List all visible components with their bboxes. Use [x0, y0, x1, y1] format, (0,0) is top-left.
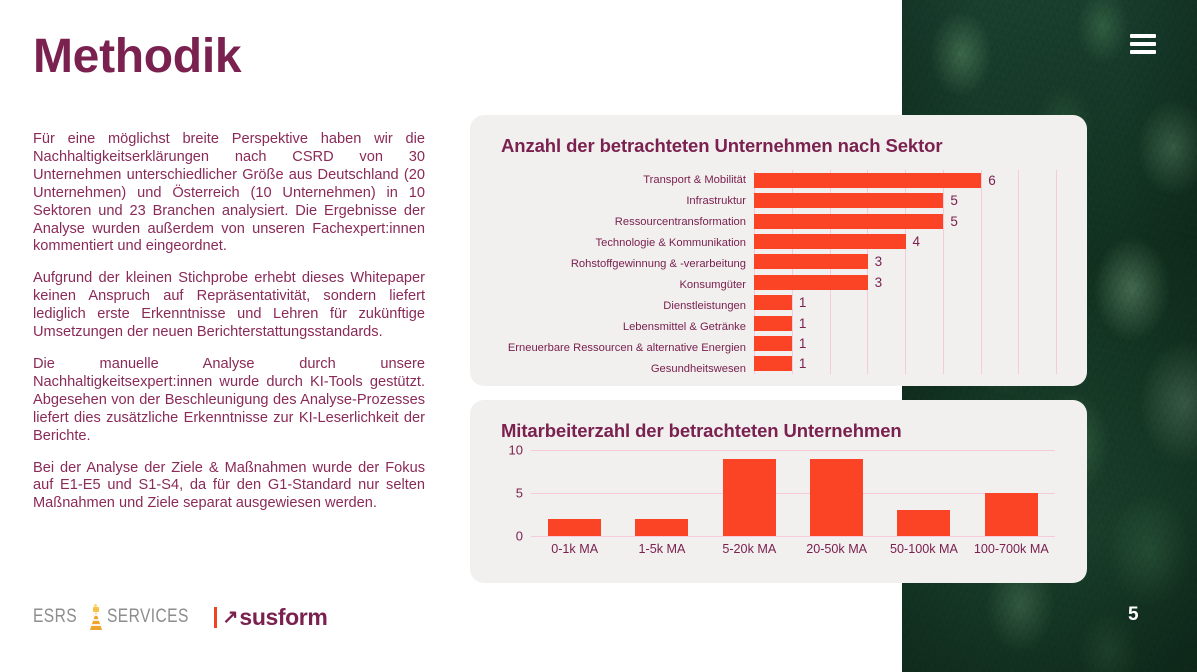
sector-bar: [754, 316, 792, 331]
employee-bar-column: [793, 450, 880, 536]
sector-chart-bars-area: 6554331111: [754, 170, 1057, 374]
employee-category-label: 0-1k MA: [531, 542, 618, 556]
sector-chart-plot: Transport & MobilitätInfrastrukturRessou…: [501, 170, 1057, 374]
page-title: Methodik: [33, 29, 241, 84]
employee-bar-column: [706, 450, 793, 536]
y-axis-tick-label: 5: [516, 487, 523, 500]
paragraph-2: Aufgrund der kleinen Stichprobe erhebt d…: [33, 270, 425, 342]
sector-category-label: Infrastruktur: [501, 191, 746, 212]
sector-bar-row: 1: [754, 354, 1057, 374]
y-axis-tick-label: 0: [516, 530, 523, 543]
paragraph-1: Für eine möglichst breite Perspektive ha…: [33, 131, 425, 256]
employee-bar: [635, 519, 688, 536]
sector-bar-row: 1: [754, 333, 1057, 353]
sector-bar: [754, 295, 792, 310]
sector-bar-value: 1: [799, 336, 807, 351]
sector-bar-row: 5: [754, 211, 1057, 231]
sector-bar-row: 1: [754, 292, 1057, 312]
hamburger-bar-1: [1130, 34, 1156, 38]
sector-bar-value: 5: [950, 214, 958, 229]
employee-chart-bars-area: [531, 450, 1055, 536]
sector-bar: [754, 356, 792, 371]
body-copy: Für eine möglichst breite Perspektive ha…: [33, 131, 425, 513]
lighthouse-icon: [88, 604, 104, 630]
employee-chart-y-axis: 1050: [501, 450, 527, 536]
services-label: SERVICES: [107, 606, 189, 628]
employee-category-label: 100-700k MA: [968, 542, 1055, 556]
employee-chart-bars: [531, 450, 1055, 536]
footer-logo: ESRS SERVICES ↗ susform: [33, 603, 327, 631]
employee-category-label: 1-5k MA: [618, 542, 705, 556]
sector-bar: [754, 214, 943, 229]
sector-bar-value: 1: [799, 356, 807, 371]
sector-chart-title: Anzahl der betrachteten Unternehmen nach…: [501, 135, 942, 157]
sector-bar-value: 1: [799, 316, 807, 331]
sector-category-label: Konsumgüter: [501, 275, 746, 296]
sector-category-label: Rohstoffgewinnung & -verarbeitung: [501, 254, 746, 275]
employee-category-label: 50-100k MA: [880, 542, 967, 556]
sector-category-label: Ressourcentransformation: [501, 212, 746, 233]
sector-chart-card: Anzahl der betrachteten Unternehmen nach…: [470, 115, 1087, 386]
sector-bar-value: 4: [913, 234, 921, 249]
sector-bar-value: 1: [799, 295, 807, 310]
employee-bar: [548, 519, 601, 536]
sector-bar-row: 6: [754, 170, 1057, 190]
sector-category-label: Technologie & Kommunikation: [501, 233, 746, 254]
page-number: 5: [1128, 604, 1139, 626]
employee-category-label: 20-50k MA: [793, 542, 880, 556]
sector-bar-value: 5: [950, 193, 958, 208]
employee-bar: [810, 459, 863, 536]
employee-bar: [897, 510, 950, 536]
esrs-label: ESRS: [33, 606, 77, 628]
y-axis-tick-label: 10: [509, 444, 523, 457]
sector-category-label: Lebensmittel & Getränke: [501, 317, 746, 338]
sector-category-label: Transport & Mobilität: [501, 170, 746, 191]
hamburger-menu-icon[interactable]: [1130, 34, 1156, 54]
employee-chart-plot: 1050 0-1k MA1-5k MA5-20k MA20-50k MA50-1…: [501, 450, 1055, 573]
arrow-up-right-icon: ↗: [223, 608, 239, 627]
logo-divider: [214, 607, 217, 628]
sector-bar: [754, 275, 868, 290]
susform-brand: susform: [239, 604, 327, 631]
employee-bar-column: [968, 450, 1055, 536]
sector-bar-row: 3: [754, 252, 1057, 272]
sector-bar-row: 5: [754, 190, 1057, 210]
sector-bar: [754, 254, 868, 269]
hamburger-bar-2: [1130, 42, 1156, 46]
sector-category-label: Erneuerbare Ressourcen & alternative Ene…: [501, 338, 746, 359]
sector-bar-row: 1: [754, 313, 1057, 333]
sector-bar: [754, 234, 906, 249]
employee-chart-title: Mitarbeiterzahl der betrachteten Unterne…: [501, 420, 902, 442]
employee-bar: [985, 493, 1038, 536]
sector-bar: [754, 173, 981, 188]
hamburger-bar-3: [1130, 50, 1156, 54]
sector-bar-row: 4: [754, 231, 1057, 251]
sector-bar-value: 3: [875, 254, 883, 269]
sector-chart-bar-rows: 6554331111: [754, 170, 1057, 374]
sector-bar: [754, 336, 792, 351]
sector-chart-category-labels: Transport & MobilitätInfrastrukturRessou…: [501, 170, 754, 374]
sector-bar-row: 3: [754, 272, 1057, 292]
sector-bar-value: 6: [988, 173, 996, 188]
paragraph-3: Die manuelle Analyse durch unsere Nachha…: [33, 356, 425, 446]
slide-root: 5 Methodik Für eine möglichst breite Per…: [0, 0, 1197, 672]
employee-bar-column: [618, 450, 705, 536]
paragraph-4: Bei der Analyse der Ziele & Maßnahmen wu…: [33, 460, 425, 514]
sector-bar: [754, 193, 943, 208]
employee-bar-column: [880, 450, 967, 536]
employee-category-label: 5-20k MA: [706, 542, 793, 556]
sector-bar-value: 3: [875, 275, 883, 290]
sector-category-label: Gesundheitswesen: [501, 359, 746, 380]
sector-category-label: Dienstleistungen: [501, 296, 746, 317]
employee-chart-x-labels: 0-1k MA1-5k MA5-20k MA20-50k MA50-100k M…: [531, 542, 1055, 556]
employee-bar-column: [531, 450, 618, 536]
employee-chart-card: Mitarbeiterzahl der betrachteten Unterne…: [470, 400, 1087, 583]
employee-bar: [723, 459, 776, 536]
